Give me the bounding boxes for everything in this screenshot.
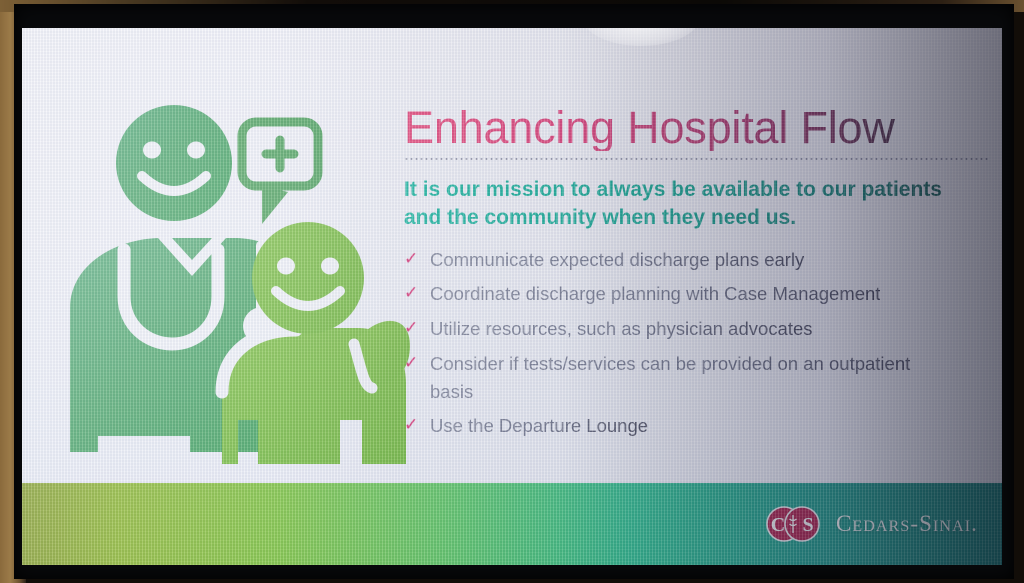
list-item: ✓ Utilize resources, such as physician a…	[404, 315, 984, 343]
mission-statement: It is our mission to always be available…	[404, 176, 964, 231]
list-item: ✓ Coordinate discharge planning with Cas…	[404, 280, 984, 308]
title-divider	[404, 158, 990, 160]
screen-glare-reflection	[582, 28, 700, 46]
svg-text:S: S	[802, 514, 813, 536]
list-item-label: Coordinate discharge planning with Case …	[430, 280, 880, 308]
slide-content: Enhancing Hospital Flow It is our missio…	[404, 104, 984, 456]
doctor-head	[116, 105, 232, 221]
list-item-label: Use the Departure Lounge	[430, 412, 648, 440]
doctor-and-patient-illustration	[62, 100, 432, 470]
slide-title: Enhancing Hospital Flow	[404, 104, 984, 151]
list-item: ✓ Use the Departure Lounge	[404, 412, 984, 440]
svg-text:C: C	[771, 514, 785, 536]
bullet-list: ✓ Communicate expected discharge plans e…	[404, 246, 984, 441]
cedars-sinai-logo-icon: C S	[764, 504, 822, 544]
photographed-display: Enhancing Hospital Flow It is our missio…	[0, 0, 1024, 583]
presentation-slide: Enhancing Hospital Flow It is our missio…	[22, 28, 1002, 565]
check-icon: ✓	[404, 350, 430, 376]
list-item-label: Utilize resources, such as physician adv…	[430, 315, 813, 343]
check-icon: ✓	[404, 280, 430, 306]
list-item-label: Consider if tests/services can be provid…	[430, 350, 950, 406]
list-item: ✓ Consider if tests/services can be prov…	[404, 350, 984, 406]
check-icon: ✓	[404, 315, 430, 341]
check-icon: ✓	[404, 246, 430, 272]
list-item: ✓ Communicate expected discharge plans e…	[404, 246, 984, 274]
speech-bubble-plus-icon	[242, 122, 318, 224]
check-icon: ✓	[404, 412, 430, 438]
brand-lockup: C S Cedars-Sinai.	[764, 504, 978, 544]
list-item-label: Communicate expected discharge plans ear…	[430, 246, 804, 274]
slide-screen: Enhancing Hospital Flow It is our missio…	[22, 28, 1002, 565]
patient-head	[252, 222, 364, 334]
brand-wordmark: Cedars-Sinai.	[836, 511, 978, 537]
slide-footer-bar: C S Cedars-Sinai.	[22, 483, 1002, 565]
